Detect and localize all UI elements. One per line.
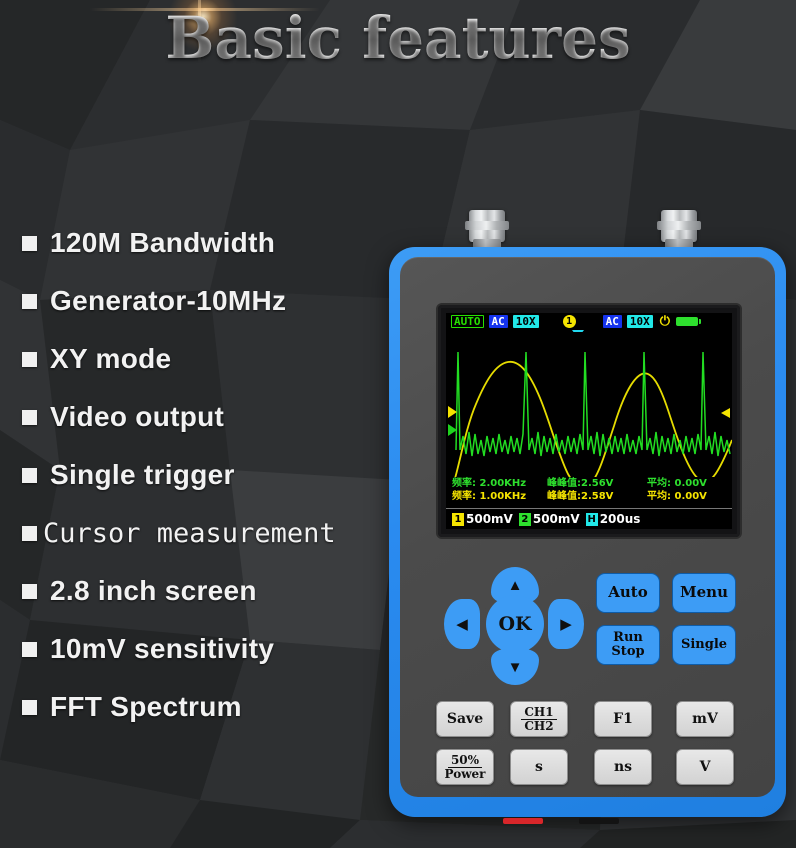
ch1-label: CH1 [521,706,556,720]
power-label: Power [442,768,489,781]
scale-value-timebase: 200us [600,512,641,526]
auto-button[interactable]: Auto [596,573,660,613]
feature-label: FFT Spectrum [50,691,242,723]
bullet-square-icon [22,526,37,541]
scale-bar: 1 500mV 2 500mV H 200us [446,508,732,529]
feature-list: 120M Bandwidth Generator-10MHz XY mode V… [22,214,402,736]
bullet-square-icon [22,700,37,715]
oscilloscope-device: AUTO AC 10X 1 AC 10X ⏻ [389,247,786,817]
feature-label: 10mV sensitivity [50,633,274,665]
bullet-square-icon [22,584,37,599]
probe-tab-red [503,818,543,824]
arrow-up-icon: ▲ [508,578,523,593]
trigger-slope-icon: ⏻ [660,315,670,328]
list-item: 10mV sensitivity [22,620,402,678]
waveform-plot [446,332,732,477]
lcd-surface: AUTO AC 10X 1 AC 10X ⏻ [446,313,732,529]
list-item: 2.8 inch screen [22,562,402,620]
dpad-down-button[interactable]: ▼ [491,649,539,685]
status-badge-ch1-coupling[interactable]: AC [489,315,508,328]
blue-key-group: Auto Menu Run Stop Single [596,573,736,677]
measurement-row-ch1: 频率: 1.00KHz 峰峰值:2.58V 平均: 0.00V [446,490,732,503]
ch1-ch2-button[interactable]: CH1 CH2 [510,701,568,737]
scale-badge-ch2[interactable]: 2 [519,513,531,526]
status-badge-mode[interactable]: AUTO [451,315,484,328]
bnc-connector-ch2-icon [657,210,701,252]
scale-value-ch1: 500mV [466,512,513,526]
run-stop-bottom-label: Stop [611,645,644,659]
bullet-square-icon [22,352,37,367]
measurement-average: 平均: 0.00V [647,490,707,503]
f1-button[interactable]: F1 [594,701,652,737]
list-item: Generator-10MHz [22,272,402,330]
battery-icon [676,317,698,326]
waveform-canvas [446,332,732,477]
save-button[interactable]: Save [436,701,494,737]
dpad-left-button[interactable]: ◀ [444,599,480,649]
list-item: FFT Spectrum [22,678,402,736]
feature-label: 120M Bandwidth [50,227,275,259]
status-badge-ch2-coupling[interactable]: AC [603,315,622,328]
feature-label: Single trigger [50,459,235,491]
single-button[interactable]: Single [672,625,736,665]
bullet-square-icon [22,236,37,251]
trigger-level-marker-icon[interactable] [721,408,730,418]
feature-label: Generator-10MHz [50,285,286,317]
scale-value-ch2: 500mV [533,512,580,526]
run-stop-top-label: Run [613,631,643,645]
page-title: Basic features [0,4,796,72]
feature-label: XY mode [50,343,171,375]
run-stop-button[interactable]: Run Stop [596,625,660,665]
bullet-square-icon [22,468,37,483]
list-item: 120M Bandwidth [22,214,402,272]
measurement-peak-to-peak: 峰峰值:2.56V [547,477,647,490]
arrow-left-icon: ◀ [456,617,468,632]
bullet-square-icon [22,410,37,425]
measurement-frequency: 频率: 1.00KHz [452,490,547,503]
ch2-ground-marker-icon[interactable] [448,424,457,436]
ch2-label: CH2 [521,720,556,733]
volts-button[interactable]: V [676,749,734,785]
status-bar: AUTO AC 10X 1 AC 10X ⏻ [446,313,732,330]
arrow-down-icon: ▼ [508,660,523,675]
feature-label: Cursor measurement [43,518,336,549]
status-badge-active-channel[interactable]: 1 [563,315,576,328]
dpad: ▲ ◀ OK ▶ ▼ [444,567,584,685]
seconds-button[interactable]: s [510,749,568,785]
nanoseconds-button[interactable]: ns [594,749,652,785]
measurement-row-ch2: 频率: 2.00KHz 峰峰值:2.56V 平均: 0.00V [446,477,732,490]
list-item: Video output [22,388,402,446]
status-badge-ch1-probe[interactable]: 10X [513,315,539,328]
status-badge-ch2-probe[interactable]: 10X [627,315,653,328]
dpad-right-button[interactable]: ▶ [548,599,584,649]
list-item: XY mode [22,330,402,388]
fifty-percent-label: 50% [448,754,482,768]
mv-button[interactable]: mV [676,701,734,737]
bnc-connector-ch1-icon [465,210,509,252]
probe-tab-black [579,818,619,824]
grey-key-group: Save CH1 CH2 F1 mV 50% Power s ns V [436,701,748,789]
measurement-average: 平均: 0.00V [647,477,707,490]
menu-button[interactable]: Menu [672,573,736,613]
device-body: AUTO AC 10X 1 AC 10X ⏻ [400,257,775,797]
fifty-percent-power-button[interactable]: 50% Power [436,749,494,785]
measurement-readout: 频率: 2.00KHz 峰峰值:2.56V 平均: 0.00V 频率: 1.00… [446,477,732,503]
feature-label: 2.8 inch screen [50,575,257,607]
measurement-frequency: 频率: 2.00KHz [452,477,547,490]
ch1-ground-marker-icon[interactable] [448,406,457,418]
scale-badge-ch1[interactable]: 1 [452,513,464,526]
arrow-right-icon: ▶ [560,617,572,632]
measurement-peak-to-peak: 峰峰值:2.58V [547,490,647,503]
list-item: Single trigger [22,446,402,504]
feature-label: Video output [50,401,224,433]
lcd-screen[interactable]: AUTO AC 10X 1 AC 10X ⏻ [438,305,740,537]
bullet-square-icon [22,642,37,657]
dpad-ok-button[interactable]: OK [486,595,544,653]
bullet-square-icon [22,294,37,309]
list-item: Cursor measurement [22,504,402,562]
scale-badge-timebase[interactable]: H [586,513,598,526]
